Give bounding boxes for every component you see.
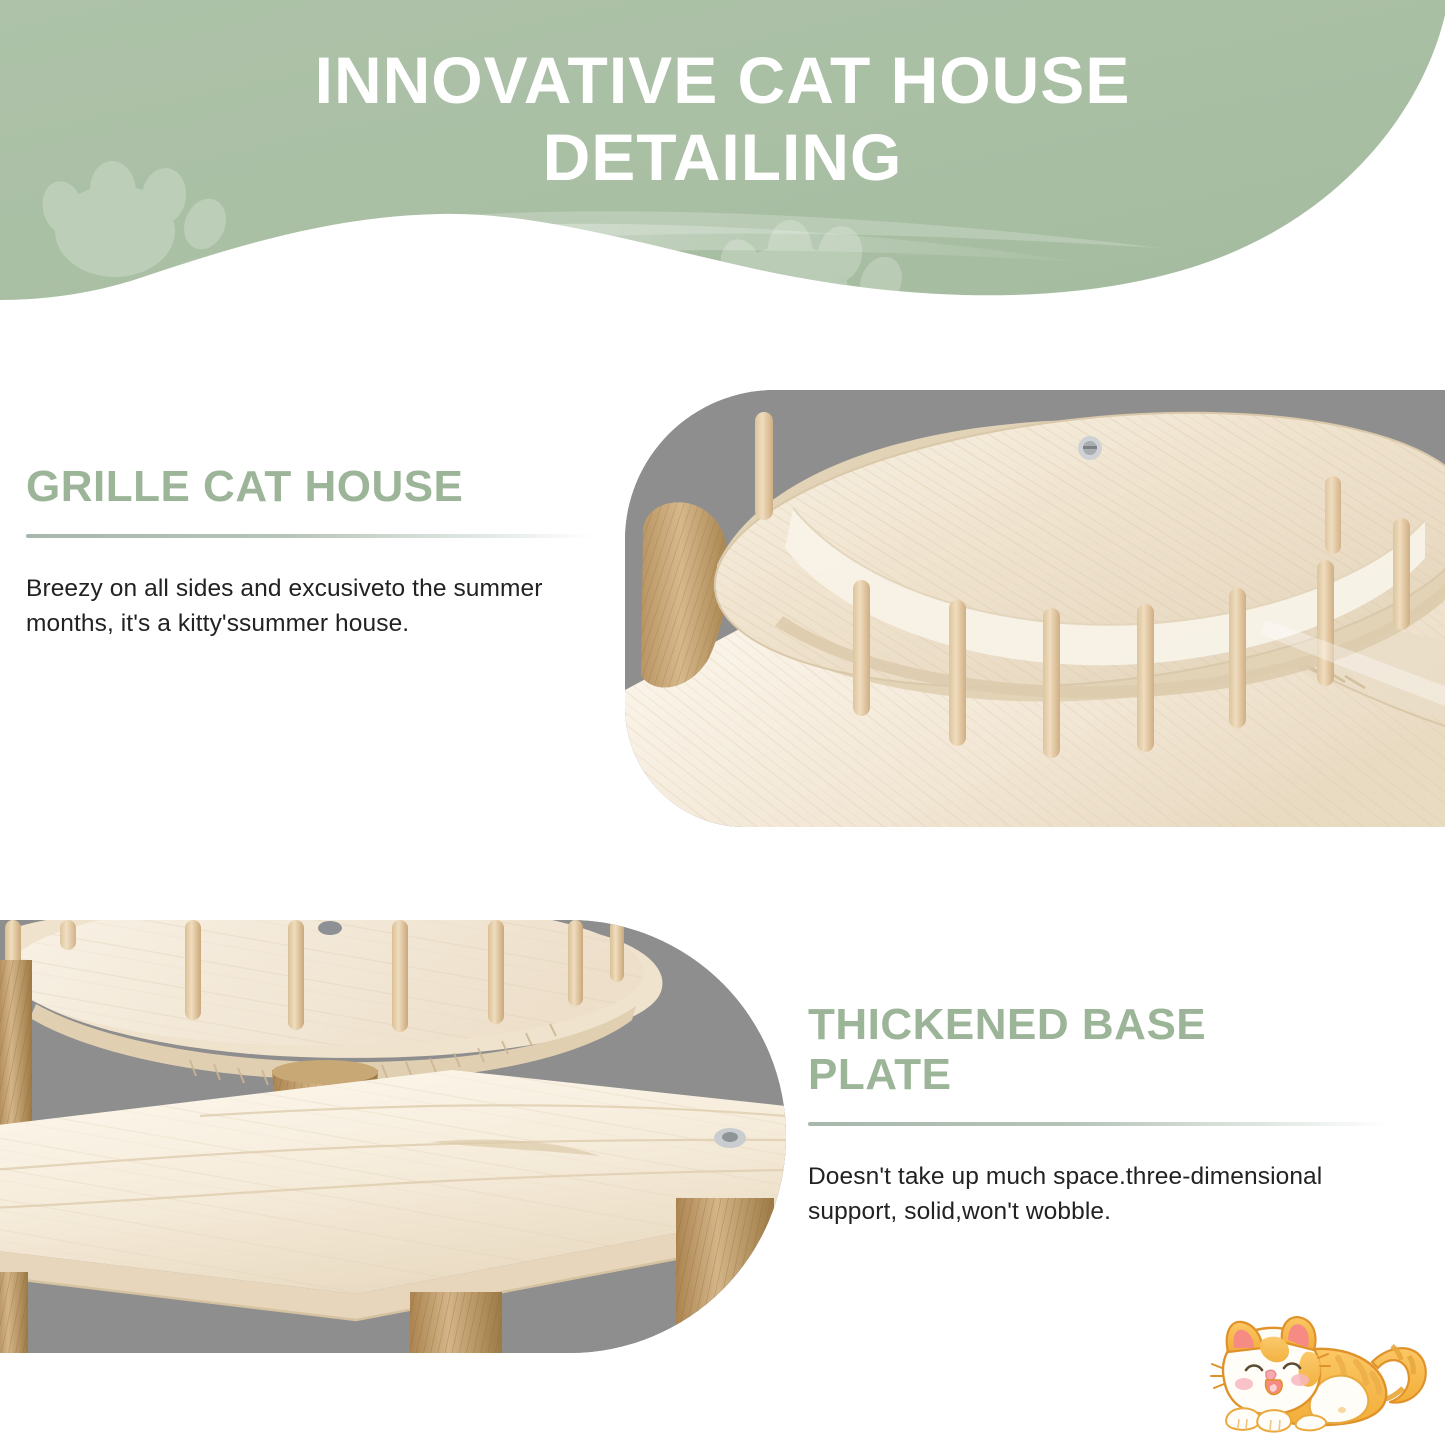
photo-thickened-base-plate [0, 920, 786, 1353]
base-plate-illustration [0, 920, 786, 1353]
cat-blush-right [1291, 1374, 1309, 1386]
feature-title-grille: GRILLE CAT HOUSE [26, 462, 596, 512]
cat-back-paw [1296, 1415, 1327, 1430]
grille-platform-illustration [625, 390, 1445, 827]
feature-block-grille-cat-house: GRILLE CAT HOUSE Breezy on all sides and… [26, 462, 596, 666]
feature-divider [26, 534, 596, 538]
cat-mascot-icon [1196, 1306, 1432, 1434]
cat-front-paw-right [1257, 1410, 1291, 1431]
feature-body-grille: Breezy on all sides and excusiveto the s… [26, 572, 596, 642]
feature-divider [808, 1122, 1388, 1126]
page-title: INNOVATIVE CAT HOUSE DETAILING [0, 42, 1445, 195]
feature-title-base-plate: THICKENED BASE PLATE [808, 1000, 1388, 1100]
cat-front-paw-left [1226, 1408, 1260, 1429]
screw-icon [1078, 436, 1102, 460]
screw-icon [714, 1128, 746, 1148]
cat-blush-left [1235, 1378, 1253, 1390]
photo-grille-cat-house [625, 390, 1445, 827]
header-banner: INNOVATIVE CAT HOUSE DETAILING [0, 0, 1445, 310]
cat-nose [1266, 1370, 1276, 1380]
cat-mascot-illustration [1196, 1306, 1432, 1434]
feature-block-thickened-base-plate: THICKENED BASE PLATE Doesn't take up muc… [808, 1000, 1388, 1254]
screw-icon [318, 921, 342, 935]
feature-body-base-plate: Doesn't take up much space.three-dimensi… [808, 1160, 1388, 1230]
